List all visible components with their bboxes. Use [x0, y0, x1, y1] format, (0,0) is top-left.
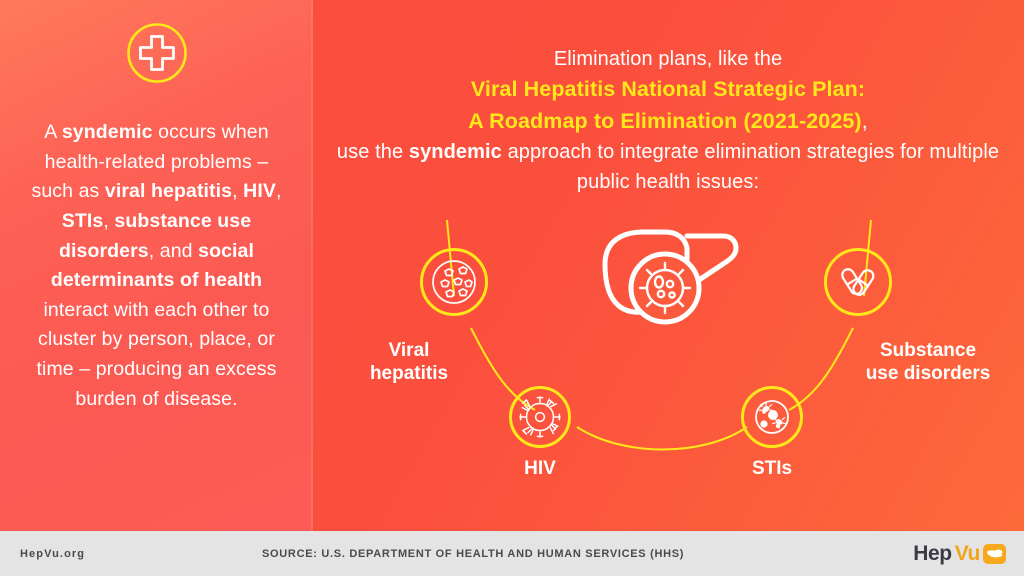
node-label-viral-hepatitis: Viral hepatitis	[319, 340, 499, 386]
left-panel: A syndemic occurs when health-related pr…	[0, 0, 313, 531]
left-body-segment-5: HIV	[243, 180, 276, 202]
node-label-substance-use-disorders: Substance use disorders	[833, 340, 1023, 386]
footer-bar: HepVu.org SOURCE: U.S. DEPARTMENT OF HEA…	[0, 531, 1024, 576]
node-label-stis: STIs	[712, 458, 832, 481]
header-highlight-line-2: A Roadmap to Elimination (2021-2025)	[468, 109, 861, 133]
logo-text-primary: Hep	[913, 542, 951, 566]
hiv-virus-icon	[516, 393, 564, 441]
header-body-post: approach to integrate elimination strate…	[502, 141, 999, 193]
syndemic-diagram: Viral hepatitis	[313, 200, 1024, 531]
node-substance-use-disorders[interactable]	[824, 248, 892, 316]
header-intro-line: Elimination plans, like the	[554, 48, 782, 70]
liver-with-magnified-virus-icon	[595, 222, 745, 332]
left-body-segment-0: A	[44, 121, 62, 143]
left-body-segment-8: ,	[103, 210, 114, 232]
left-body-segment-7: STIs	[62, 210, 104, 232]
medical-cross-icon	[126, 22, 188, 84]
left-body-segment-12: interact with each other to cluster by p…	[37, 299, 277, 410]
footer-source-text: SOURCE: U.S. DEPARTMENT OF HEALTH AND HU…	[262, 548, 684, 560]
left-body-segment-6: ,	[276, 180, 282, 202]
header-highlight-tail: ,	[862, 109, 868, 133]
left-body-segment-10: , and	[149, 240, 198, 262]
node-label-hiv: HIV	[480, 458, 600, 481]
footer-site-link[interactable]: HepVu.org	[20, 548, 85, 560]
logo-text-secondary: Vu	[955, 542, 980, 566]
node-hiv[interactable]	[509, 386, 571, 448]
left-body-segment-4: ,	[232, 180, 243, 202]
left-body-segment-1: syndemic	[62, 121, 153, 143]
left-body-segment-3: viral hepatitis	[105, 180, 232, 202]
infographic-root: A syndemic occurs when health-related pr…	[0, 0, 1024, 576]
left-panel-body: A syndemic occurs when health-related pr…	[26, 118, 288, 414]
petri-dish-bacteria-icon	[748, 393, 796, 441]
pills-capsules-icon	[832, 256, 884, 308]
header-body-bold: syndemic	[409, 141, 502, 163]
right-panel-header: Elimination plans, like the Viral Hepati…	[330, 44, 1006, 198]
node-stis[interactable]	[741, 386, 803, 448]
us-map-icon	[983, 544, 1006, 564]
header-highlight-line-1: Viral Hepatitis National Strategic Plan:	[330, 74, 1006, 105]
node-viral-hepatitis[interactable]	[420, 248, 488, 316]
hepatitis-virus-icon	[428, 256, 480, 308]
header-highlight-line-2-group: A Roadmap to Elimination (2021-2025),	[330, 106, 1006, 137]
hepvu-logo[interactable]: HepVu	[913, 542, 1006, 566]
header-body-pre: use the	[337, 141, 409, 163]
